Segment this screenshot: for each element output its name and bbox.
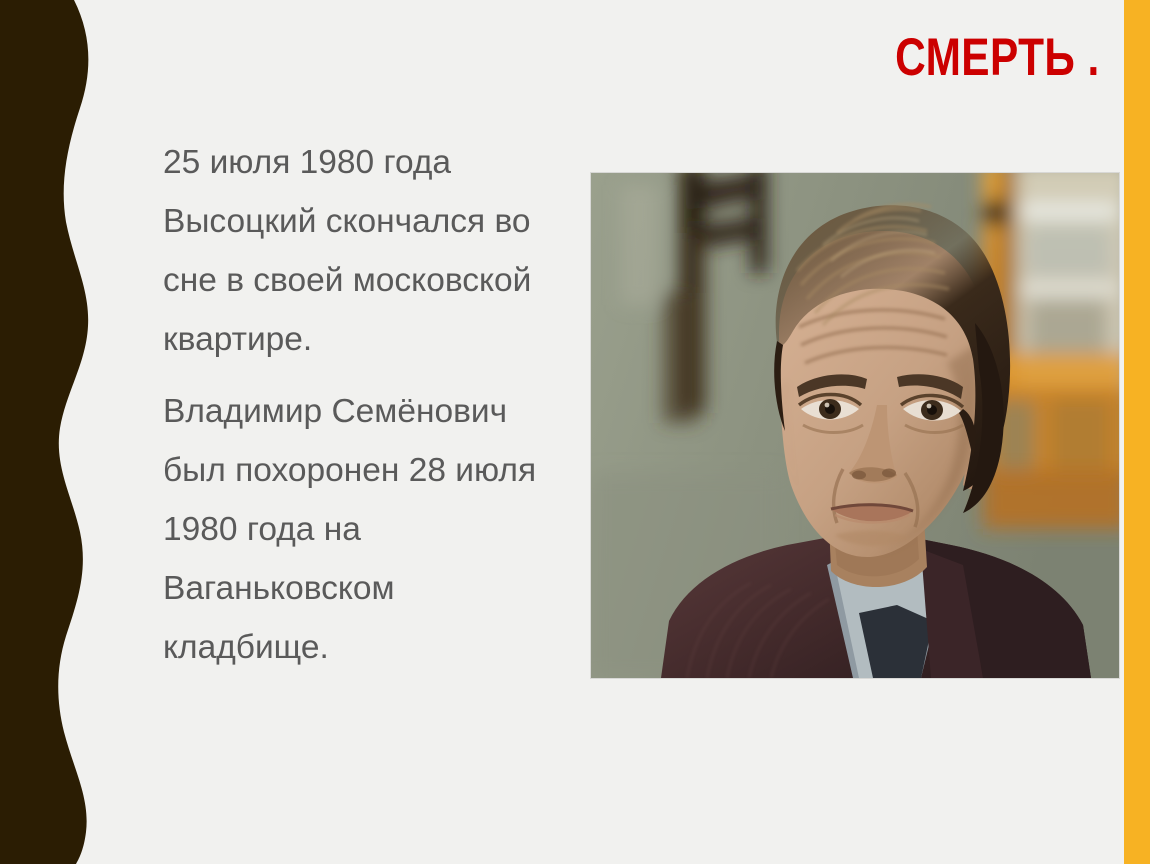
wavy-band-icon: [0, 0, 100, 864]
slide-root: СМЕРТЬ . 25 июля 1980 года Высоцкий скон…: [0, 0, 1150, 864]
page-title: СМЕРТЬ .: [895, 29, 1100, 86]
paragraph-2: Владимир Семёнович был похоронен 28 июля…: [163, 382, 563, 677]
vysotsky-photo-illustration: [591, 173, 1119, 678]
vysotsky-photo: [591, 173, 1119, 678]
left-wavy-band: [0, 0, 100, 864]
body-text-block: 25 июля 1980 года Высоцкий скончался во …: [163, 133, 563, 690]
right-accent-bar: [1124, 0, 1150, 864]
paragraph-1: 25 июля 1980 года Высоцкий скончался во …: [163, 133, 563, 369]
